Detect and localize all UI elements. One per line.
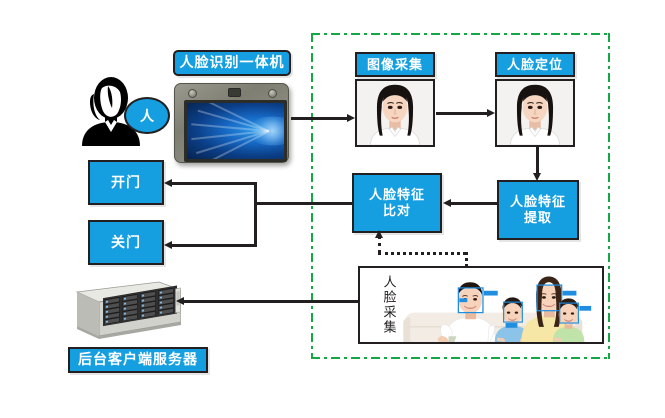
feature-compare-label-line2: 比对: [383, 203, 411, 219]
arrowhead-capture-to-locate: [487, 109, 495, 117]
face-locate-photo: [495, 79, 575, 147]
arrowhead-open-door: [164, 179, 172, 187]
feature-extract-box: 人脸特征 提取: [497, 180, 579, 240]
connector-terminal-to-capture: [291, 117, 347, 120]
person-bubble-label: 人: [140, 106, 154, 126]
face-recognition-terminal: [174, 83, 289, 163]
connector-compare-to-bracket: [254, 202, 353, 205]
connector-bracket-to-close-door: [172, 244, 256, 247]
feature-compare-box: 人脸特征 比对: [352, 173, 442, 233]
face-locate-box: 人脸定位: [495, 52, 575, 77]
face-collect-label: 人脸采集: [378, 272, 400, 338]
connector-bracket-to-open-door: [172, 182, 256, 185]
diagram-canvas: 人 人脸识别一体机 图像采集: [0, 0, 665, 418]
connector-collect-dotted-vertical-left: [378, 236, 381, 253]
arrowhead-locate-to-extract: [533, 173, 541, 181]
arrowhead-collect-to-compare: [375, 230, 383, 238]
image-capture-box: 图像采集: [355, 52, 435, 77]
connector-bracket-vertical: [254, 182, 257, 247]
connector-extract-to-compare: [451, 202, 498, 205]
arrowhead-close-door: [164, 241, 172, 249]
face-locate-label: 人脸定位: [507, 57, 563, 73]
image-capture-photo: [355, 79, 435, 147]
server-label-text: 后台客户端服务器: [78, 351, 198, 368]
sensor-dot-left: [188, 89, 197, 98]
open-door-label: 开门: [111, 174, 141, 191]
arrowhead-extract-to-compare: [443, 199, 451, 207]
sensor-dot-right: [268, 89, 277, 98]
close-door-box: 关门: [88, 220, 164, 265]
feature-extract-label-line1: 人脸特征: [510, 194, 566, 210]
feature-extract-label-line2: 提取: [524, 210, 552, 226]
arrowhead-collect-to-server: [176, 297, 184, 305]
connector-locate-to-extract: [536, 147, 539, 173]
terminal-label: 人脸识别一体机: [173, 50, 291, 76]
connector-collect-dotted-horizontal: [378, 252, 466, 255]
connector-collect-to-server: [184, 300, 359, 303]
terminal-label-text: 人脸识别一体机: [180, 54, 285, 71]
open-door-box: 开门: [88, 160, 164, 205]
server-label: 后台客户端服务器: [68, 347, 208, 373]
close-door-label: 关门: [111, 234, 141, 251]
feature-compare-label-line1: 人脸特征: [369, 187, 425, 203]
camera-module: [228, 88, 241, 97]
terminal-screen: [184, 100, 287, 162]
connector-capture-to-locate: [436, 112, 487, 115]
image-capture-label: 图像采集: [367, 57, 423, 73]
face-collect-label-text: 人脸采集: [383, 275, 396, 335]
arrowhead-terminal-to-capture: [347, 114, 355, 122]
server-illustration: [63, 278, 181, 340]
person-bubble: 人: [124, 97, 170, 134]
